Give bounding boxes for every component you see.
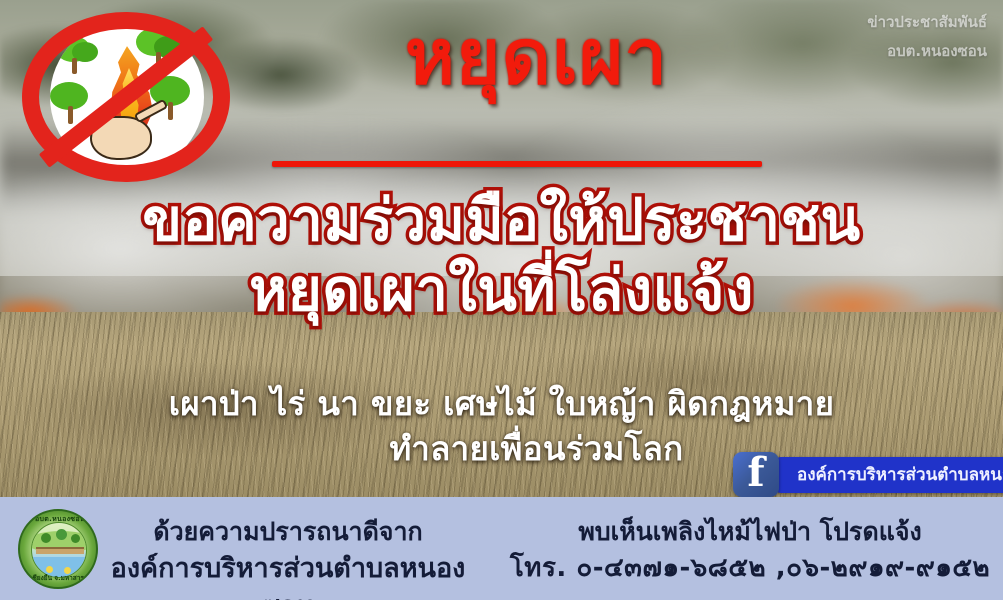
footer-bar: อบต.หนองซอน อ.เชียงยืน จ.มหาสารคาม ด้วยค…	[0, 497, 1003, 600]
sub-line-1: เผาป่า ไร่ นา ขยะ เศษไม้ ใบหญ้า ผิดกฎหมา…	[0, 382, 1003, 427]
headline: หยุดเผา	[0, 18, 1003, 96]
body-message: ขอความร่วมมือให้ประชาชน หยุดเผาในที่โล่ง…	[0, 186, 1003, 325]
subdistrict-seal-icon: อบต.หนองซอน อ.เชียงยืน จ.มหาสารคาม	[18, 509, 98, 589]
facebook-f-icon[interactable]	[733, 452, 779, 497]
footer-contact-phone: โทร. ๐-๔๓๗๑-๖๘๕๒ ,๐๖-๒๙๑๙-๙๑๕๒	[500, 550, 1000, 587]
footer-left-text: ด้วยความปรารถนาดีจาก องค์การบริหารส่วนตำ…	[108, 514, 468, 600]
seal-tree-3-icon	[71, 534, 80, 543]
body-line-2: หยุดเผาในที่โล่งแจ้ง	[0, 256, 1003, 324]
seal-ring-bottom-text: อ.เชียงยืน จ.มหาสารคาม	[20, 573, 98, 583]
headline-divider	[272, 161, 762, 167]
facebook-page-name[interactable]: องค์การบริหารส่วนตำบลหนองซอน	[775, 457, 1003, 493]
body-line-1: ขอความร่วมมือให้ประชาชน	[0, 186, 1003, 254]
seal-tree-1-icon	[41, 533, 51, 543]
footer-left-line-2: องค์การบริหารส่วนตำบลหนองซอน	[108, 550, 468, 600]
footer-right-line-1: พบเห็นเพลิงไหม้ไฟป่า โปรดแจ้ง	[500, 514, 1000, 550]
public-announcement-poster: ข่าวประชาสัมพันธ์ อบต.หนองซอน	[0, 0, 1003, 600]
seal-inner-scene	[31, 522, 87, 578]
footer-left-line-1: ด้วยความปรารถนาดีจาก	[108, 514, 468, 550]
seal-flower-1-icon	[46, 566, 53, 573]
seal-bridge	[36, 547, 84, 554]
facebook-badge[interactable]: องค์การบริหารส่วนตำบลหนองซอน	[733, 452, 1003, 497]
seal-tree-2-icon	[56, 529, 67, 540]
footer-right-text: พบเห็นเพลิงไหม้ไฟป่า โปรดแจ้ง โทร. ๐-๔๓๗…	[500, 514, 1000, 586]
